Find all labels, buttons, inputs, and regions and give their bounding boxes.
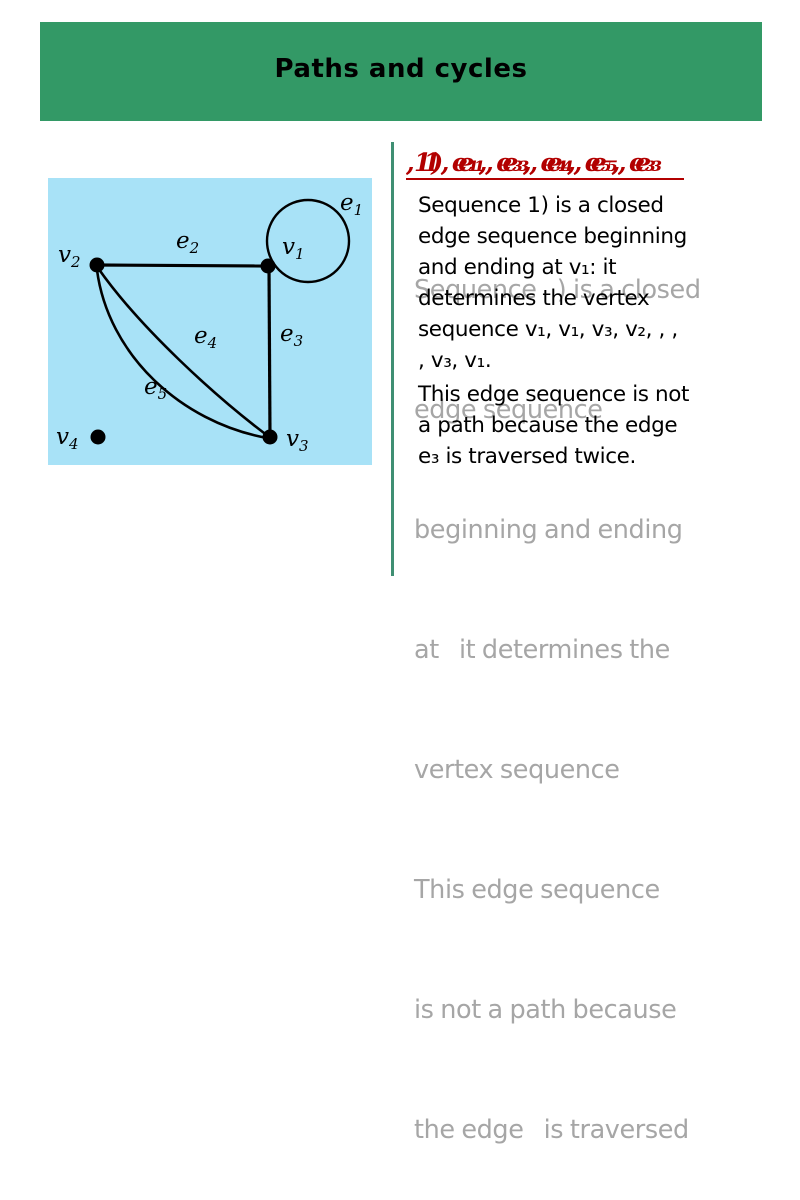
body-text: Sequence 1) is a closed edge sequence be…: [418, 190, 748, 472]
vertex-v4-dot: [91, 430, 106, 445]
vertex-v4-label: v4: [56, 424, 79, 453]
ghost-line: vertex sequence: [414, 750, 800, 790]
edge-e2-line: [97, 265, 268, 266]
ghost-line: the edge is traversed: [414, 1110, 800, 1150]
body-line: Sequence 1) is a closed: [418, 190, 748, 221]
vertex-v3-label: v3: [286, 426, 309, 455]
edge-sequence-heading: , 1, e₁, e₃, e₄, e₅, e₃ 1) e₁, e₃, e₄, e…: [406, 148, 796, 182]
edge-e5-label: e5: [144, 374, 167, 403]
body-line: edge sequence beginning: [418, 221, 748, 252]
page-title: Paths and cycles: [40, 22, 762, 121]
body-line: a path because the edge: [418, 410, 748, 441]
edge-e1-loop: [267, 200, 349, 282]
slide-canvas: Paths and cycles v1 v2 v3 v4: [0, 0, 800, 600]
vertex-v2-label: v2: [58, 242, 81, 271]
edge-e1-label: e1: [340, 190, 363, 219]
body-line: e₃ is traversed twice.: [418, 441, 748, 472]
graph-diagram: v1 v2 v3 v4 e1 e2 e3 e4 e5: [48, 178, 372, 465]
graph-figure-panel: v1 v2 v3 v4 e1 e2 e3 e4 e5: [48, 178, 372, 465]
edge-e3-label: e3: [280, 321, 303, 350]
body-line: This edge sequence is not: [418, 379, 748, 410]
body-line: determines the vertex: [418, 283, 748, 314]
body-line: , v₃, v₁.: [418, 345, 748, 376]
edge-e4-curve: [98, 268, 268, 436]
content-text-column: , 1, e₁, e₃, e₄, e₅, e₃ 1) e₁, e₃, e₄, e…: [392, 140, 800, 580]
edge-sequence-heading-front: 1) e₁, e₃, e₄, e₅, e₃: [414, 148, 656, 177]
vertex-v1-dot: [261, 259, 276, 274]
edge-e3-line: [269, 266, 270, 437]
vertex-v1-label: v1: [282, 234, 305, 263]
edge-e4-label: e4: [194, 323, 217, 352]
ghost-line: beginning and ending: [414, 510, 800, 550]
edge-e2-label: e2: [176, 228, 199, 257]
body-line: and ending at v₁: it: [418, 252, 748, 283]
ghost-line: This edge sequence: [414, 870, 800, 910]
ghost-line: at it determines the: [414, 630, 800, 670]
body-line: sequence v₁, v₁, v₃, v₂, , ,: [418, 314, 748, 345]
vertex-v3-dot: [263, 430, 278, 445]
ghost-line: is not a path because: [414, 990, 800, 1030]
edge-e5-curve: [97, 270, 267, 438]
title-bar: Paths and cycles: [40, 22, 762, 121]
vertex-v2-dot: [90, 258, 105, 273]
edge-sequence-heading-underline: [406, 178, 684, 180]
